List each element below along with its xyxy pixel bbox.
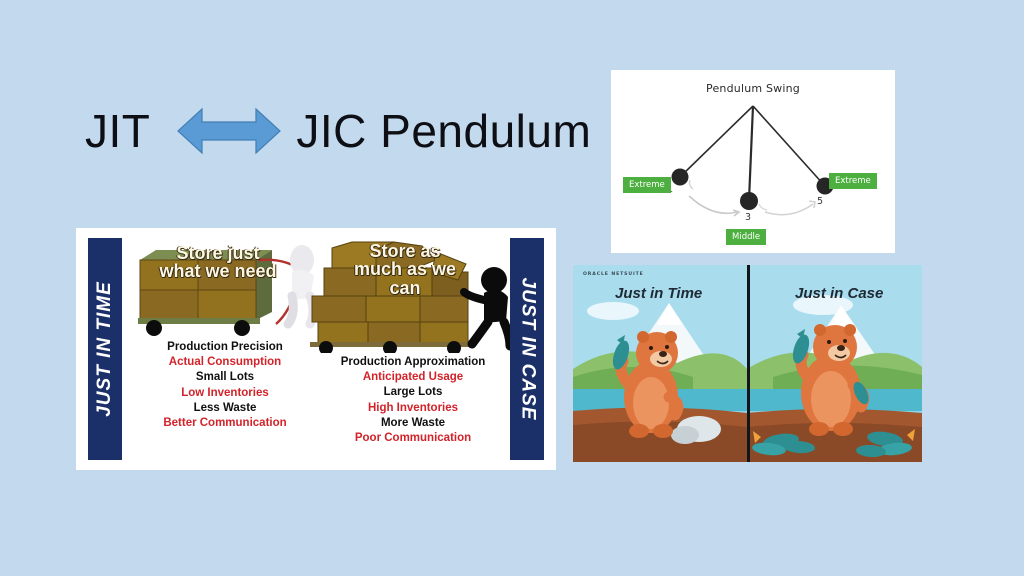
list-item: Large Lots [298,385,528,400]
pendulum-label-middle: Middle [726,229,766,245]
bear-caption-just-in-time: Just in Time [615,285,702,302]
just-in-time-attribute-list: Production Precision Actual Consumption … [130,340,320,431]
list-item: Poor Communication [298,431,528,446]
slide-title: JIT JIC Pendulum [85,101,591,161]
list-item: Production Approximation [298,355,528,370]
list-item: Production Precision [130,340,320,355]
list-item: Small Lots [130,370,320,385]
pendulum-diagram-panel: Pendulum Swing 1 3 5 Extreme Middle Extr… [611,70,895,253]
oracle-netsuite-logo: ORACLE NETSUITE [583,272,644,277]
bear-caption-just-in-case: Just in Case [795,285,883,302]
just-in-time-column: Store just what we need Production Preci… [130,238,320,431]
title-jic-text: JIC Pendulum [296,108,591,154]
list-item: Better Communication [130,416,320,431]
large-stack-of-boxes-icon: Store as much as we can [298,238,528,353]
pendulum-swing-graphic [611,70,895,253]
just-in-case-art-caption: Store as much as we can [350,242,460,297]
list-item: More Waste [298,416,528,431]
title-jit-text: JIT [85,108,150,154]
list-item: Actual Consumption [130,355,320,370]
list-item: High Inventories [298,401,528,416]
jit-jic-comparison-card: JUST IN TIME [76,228,556,470]
list-item: Less Waste [130,401,320,416]
just-in-case-attribute-list: Production Approximation Anticipated Usa… [298,355,528,446]
double-arrow-icon [176,105,282,157]
bear-cartoon-panel: ORACLE NETSUITE Just in Time Just in Cas… [573,265,922,462]
pendulum-bob-number-5: 5 [817,196,823,207]
just-in-time-banner: JUST IN TIME [88,238,122,460]
pendulum-bob-number-3: 3 [745,212,751,223]
pendulum-label-extreme-left: Extreme [623,177,671,193]
pendulum-label-extreme-right: Extreme [829,173,877,189]
small-cart-of-boxes-icon: Store just what we need [130,238,320,338]
list-item: Low Inventories [130,386,320,401]
list-item: Anticipated Usage [298,370,528,385]
bear-panel-divider [747,265,750,462]
just-in-case-column: Store as much as we can Production Appro… [298,238,528,446]
just-in-case-banner: JUST IN CASE [510,238,544,460]
just-in-time-art-caption: Store just what we need [158,244,278,281]
just-in-case-banner-label: JUST IN CASE [516,278,538,421]
slide-canvas: JIT JIC Pendulum Pendulum Swing [0,0,1024,576]
just-in-time-banner-label: JUST IN TIME [94,281,116,417]
